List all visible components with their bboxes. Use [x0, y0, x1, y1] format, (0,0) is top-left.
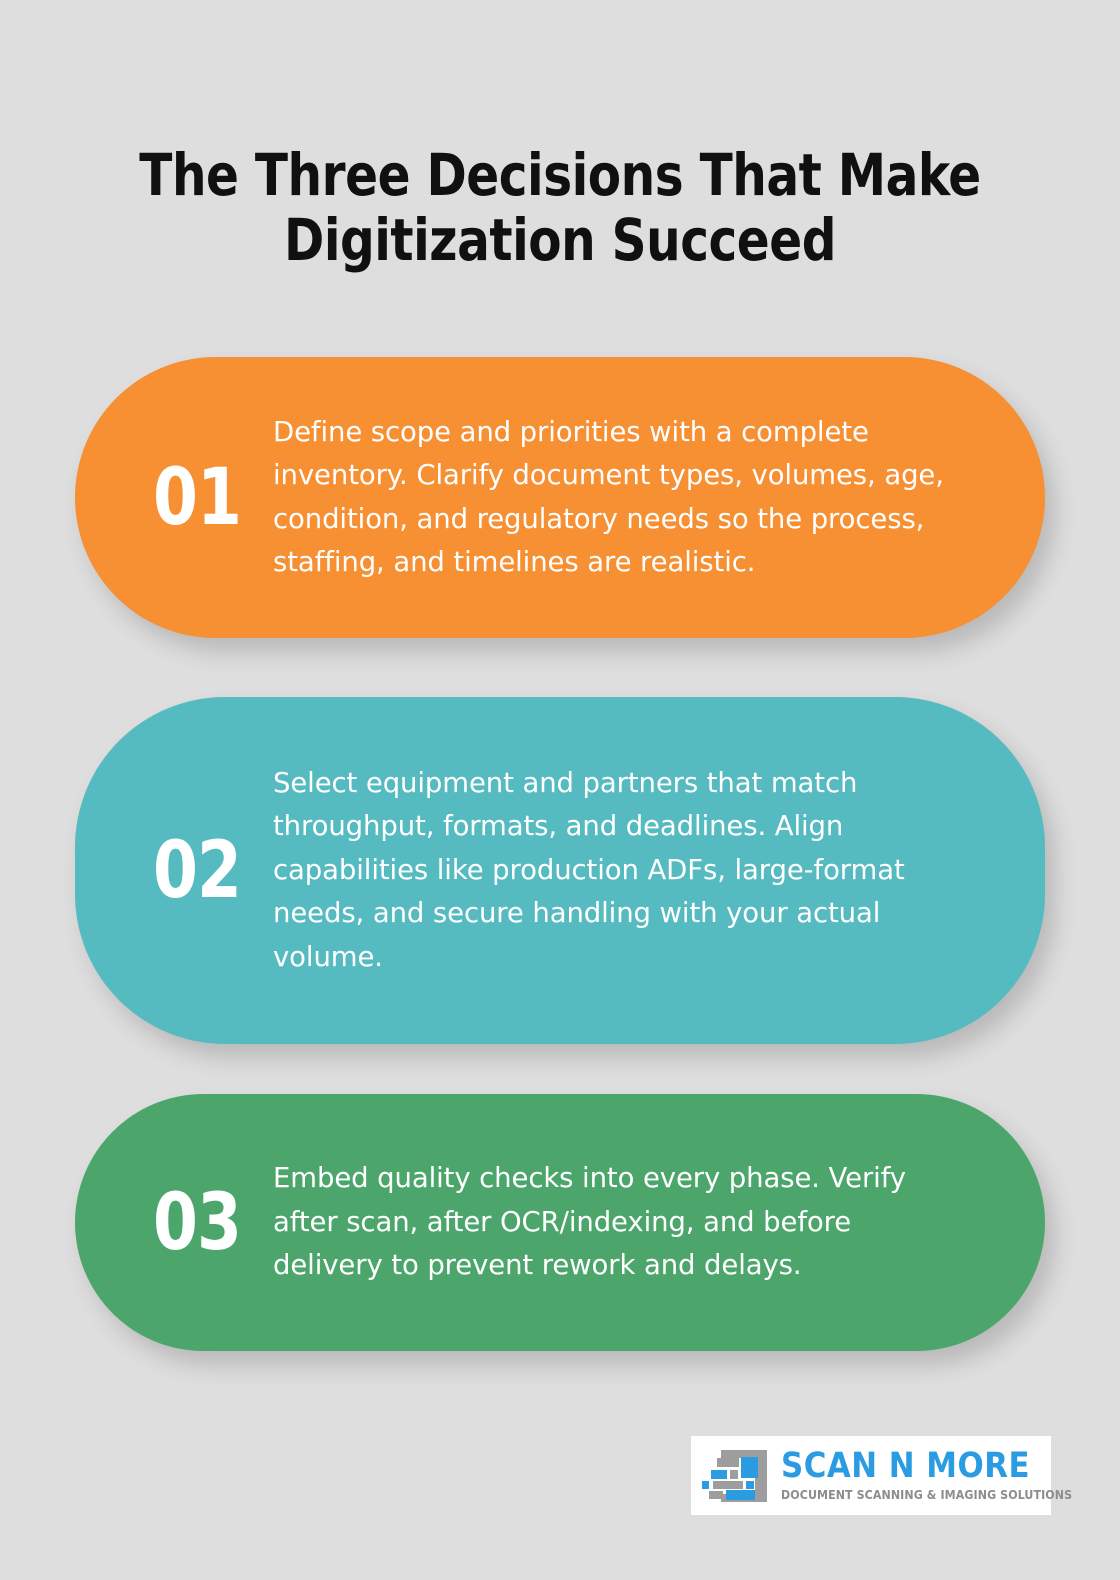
- brand-logo: SCAN N MORE DOCUMENT SCANNING & IMAGING …: [691, 1436, 1051, 1515]
- logo-name: SCAN N MORE: [781, 1449, 1040, 1484]
- step-number-01: 01: [127, 459, 267, 537]
- step-number-02: 02: [127, 832, 267, 910]
- logo-wordmark: SCAN N MORE DOCUMENT SCANNING & IMAGING …: [781, 1449, 1045, 1503]
- step-text-03: Embed quality checks into every phase. V…: [273, 1157, 1011, 1287]
- page-title-line-1: The Three Decisions That Make: [95, 143, 1025, 208]
- step-card-01: 01 Define scope and priorities with a co…: [75, 357, 1045, 638]
- step-card-02: 02 Select equipment and partners that ma…: [75, 697, 1045, 1044]
- step-text-02: Select equipment and partners that match…: [273, 762, 1011, 979]
- step-number-03: 03: [127, 1184, 267, 1262]
- page-title-line-2: Digitization Succeed: [95, 208, 1025, 273]
- logo-tagline: DOCUMENT SCANNING & IMAGING SOLUTIONS: [781, 1487, 1042, 1503]
- page-title: The Three Decisions That Make Digitizati…: [95, 143, 1025, 273]
- document-scan-icon: [701, 1446, 773, 1506]
- step-card-03: 03 Embed quality checks into every phase…: [75, 1094, 1045, 1351]
- step-text-01: Define scope and priorities with a compl…: [273, 411, 1011, 585]
